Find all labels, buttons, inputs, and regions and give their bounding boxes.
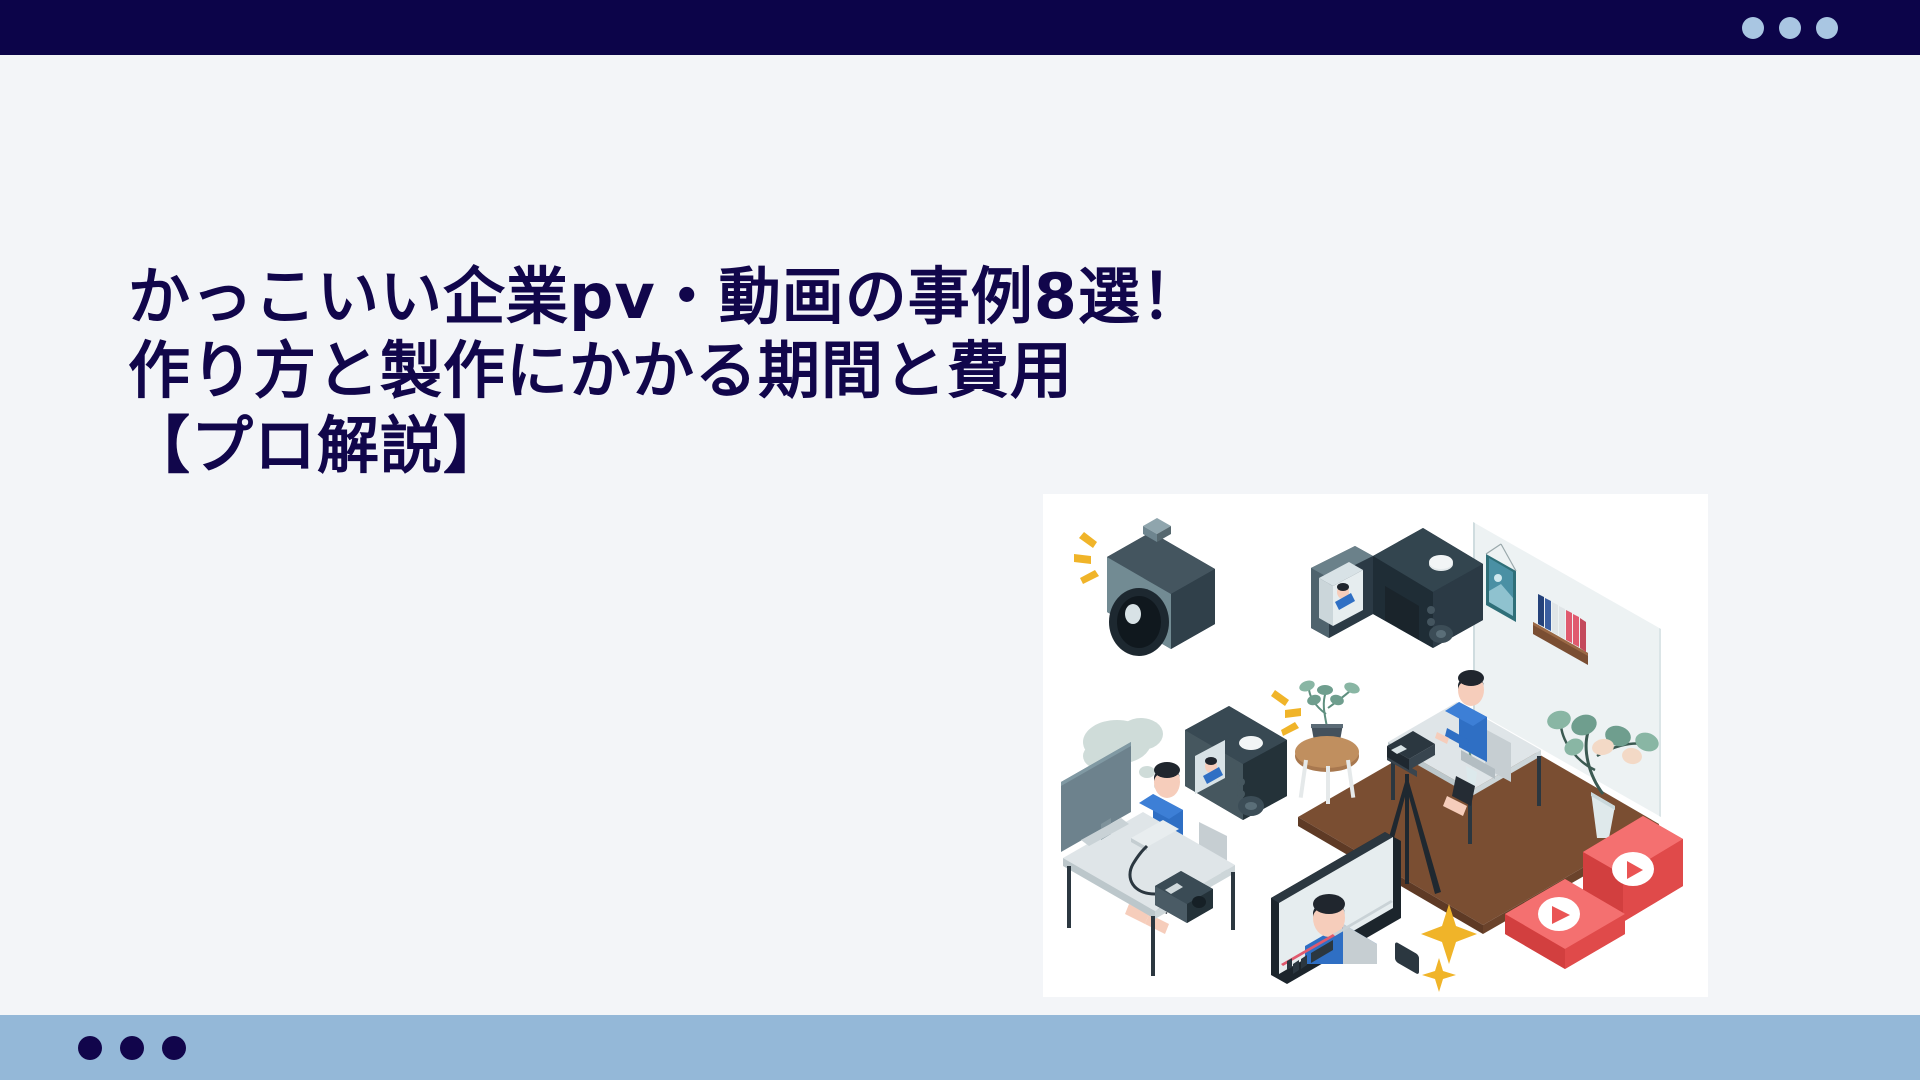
page-title-line-1: かっこいい企業pv・動画の事例8選！: [128, 262, 1558, 331]
bottombar-dot-1: [78, 1036, 102, 1060]
topbar-dot-3: [1816, 17, 1838, 39]
page-title: かっこいい企業pv・動画の事例8選！ 作り方と製作にかかる期間と費用 【プロ解説…: [128, 262, 1558, 485]
top-bar: [0, 0, 1920, 55]
page-title-line-2: 作り方と製作にかかる期間と費用: [128, 336, 1558, 405]
bottombar-dot-3: [162, 1036, 186, 1060]
bottombar-dot-2: [120, 1036, 144, 1060]
topbar-dot-1: [1742, 17, 1764, 39]
page-title-line-3: 【プロ解説】: [128, 411, 1558, 480]
topbar-dot-2: [1779, 17, 1801, 39]
hero-illustration: [1043, 494, 1708, 997]
bottom-bar: [0, 1015, 1920, 1080]
